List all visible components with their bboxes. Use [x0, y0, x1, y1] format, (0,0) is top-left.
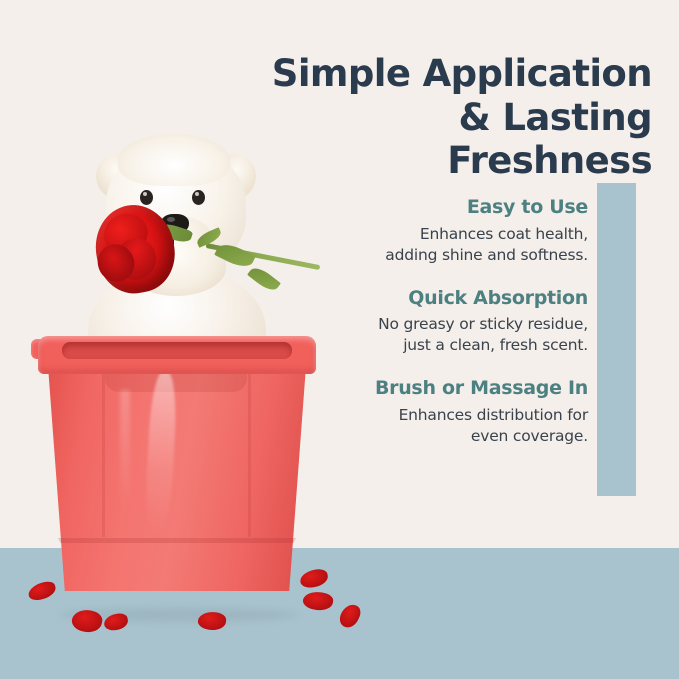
tub-rim-inner [62, 342, 292, 359]
feature-item-easy-to-use: Easy to Use Enhances coat health, adding… [330, 196, 588, 266]
feature-description-line-1: Enhances coat health, [420, 225, 588, 243]
dog-head-tuft [118, 134, 230, 186]
feature-description: No greasy or sticky residue, just a clea… [330, 314, 588, 356]
tub-seam [58, 538, 296, 543]
tub-rib [248, 372, 251, 537]
feature-title: Brush or Massage In [330, 377, 588, 401]
feature-description: Enhances coat health, adding shine and s… [330, 224, 588, 266]
feature-list: Easy to Use Enhances coat health, adding… [330, 196, 588, 447]
tub-highlight [120, 390, 130, 510]
red-tub [0, 320, 340, 620]
accent-bar [597, 183, 636, 496]
feature-item-quick-absorption: Quick Absorption No greasy or sticky res… [330, 287, 588, 357]
feature-description-line-1: Enhances distribution for [399, 406, 588, 424]
feature-title: Easy to Use [330, 196, 588, 220]
headline-line-1: Simple Application [272, 52, 652, 95]
feature-title: Quick Absorption [330, 287, 588, 311]
headline-line-2: & Lasting Freshness [262, 96, 652, 183]
feature-item-brush-or-massage-in: Brush or Massage In Enhances distributio… [330, 377, 588, 447]
feature-description-line-2: just a clean, fresh scent. [403, 336, 588, 354]
tub-body [48, 366, 306, 591]
fallen-petal [197, 611, 227, 632]
feature-description-line-2: even coverage. [471, 427, 588, 445]
feature-description-line-1: No greasy or sticky residue, [378, 315, 588, 333]
feature-description-line-2: adding shine and softness. [385, 246, 588, 264]
fallen-petal [337, 601, 363, 630]
dog-eye-left [140, 190, 153, 205]
page-title: Simple Application & Lasting Freshness [262, 52, 652, 183]
infographic-canvas: Simple Application & Lasting Freshness E… [0, 0, 679, 679]
tub-rib [102, 372, 105, 537]
feature-description: Enhances distribution for even coverage. [330, 405, 588, 447]
dog-eye-right [192, 190, 205, 205]
